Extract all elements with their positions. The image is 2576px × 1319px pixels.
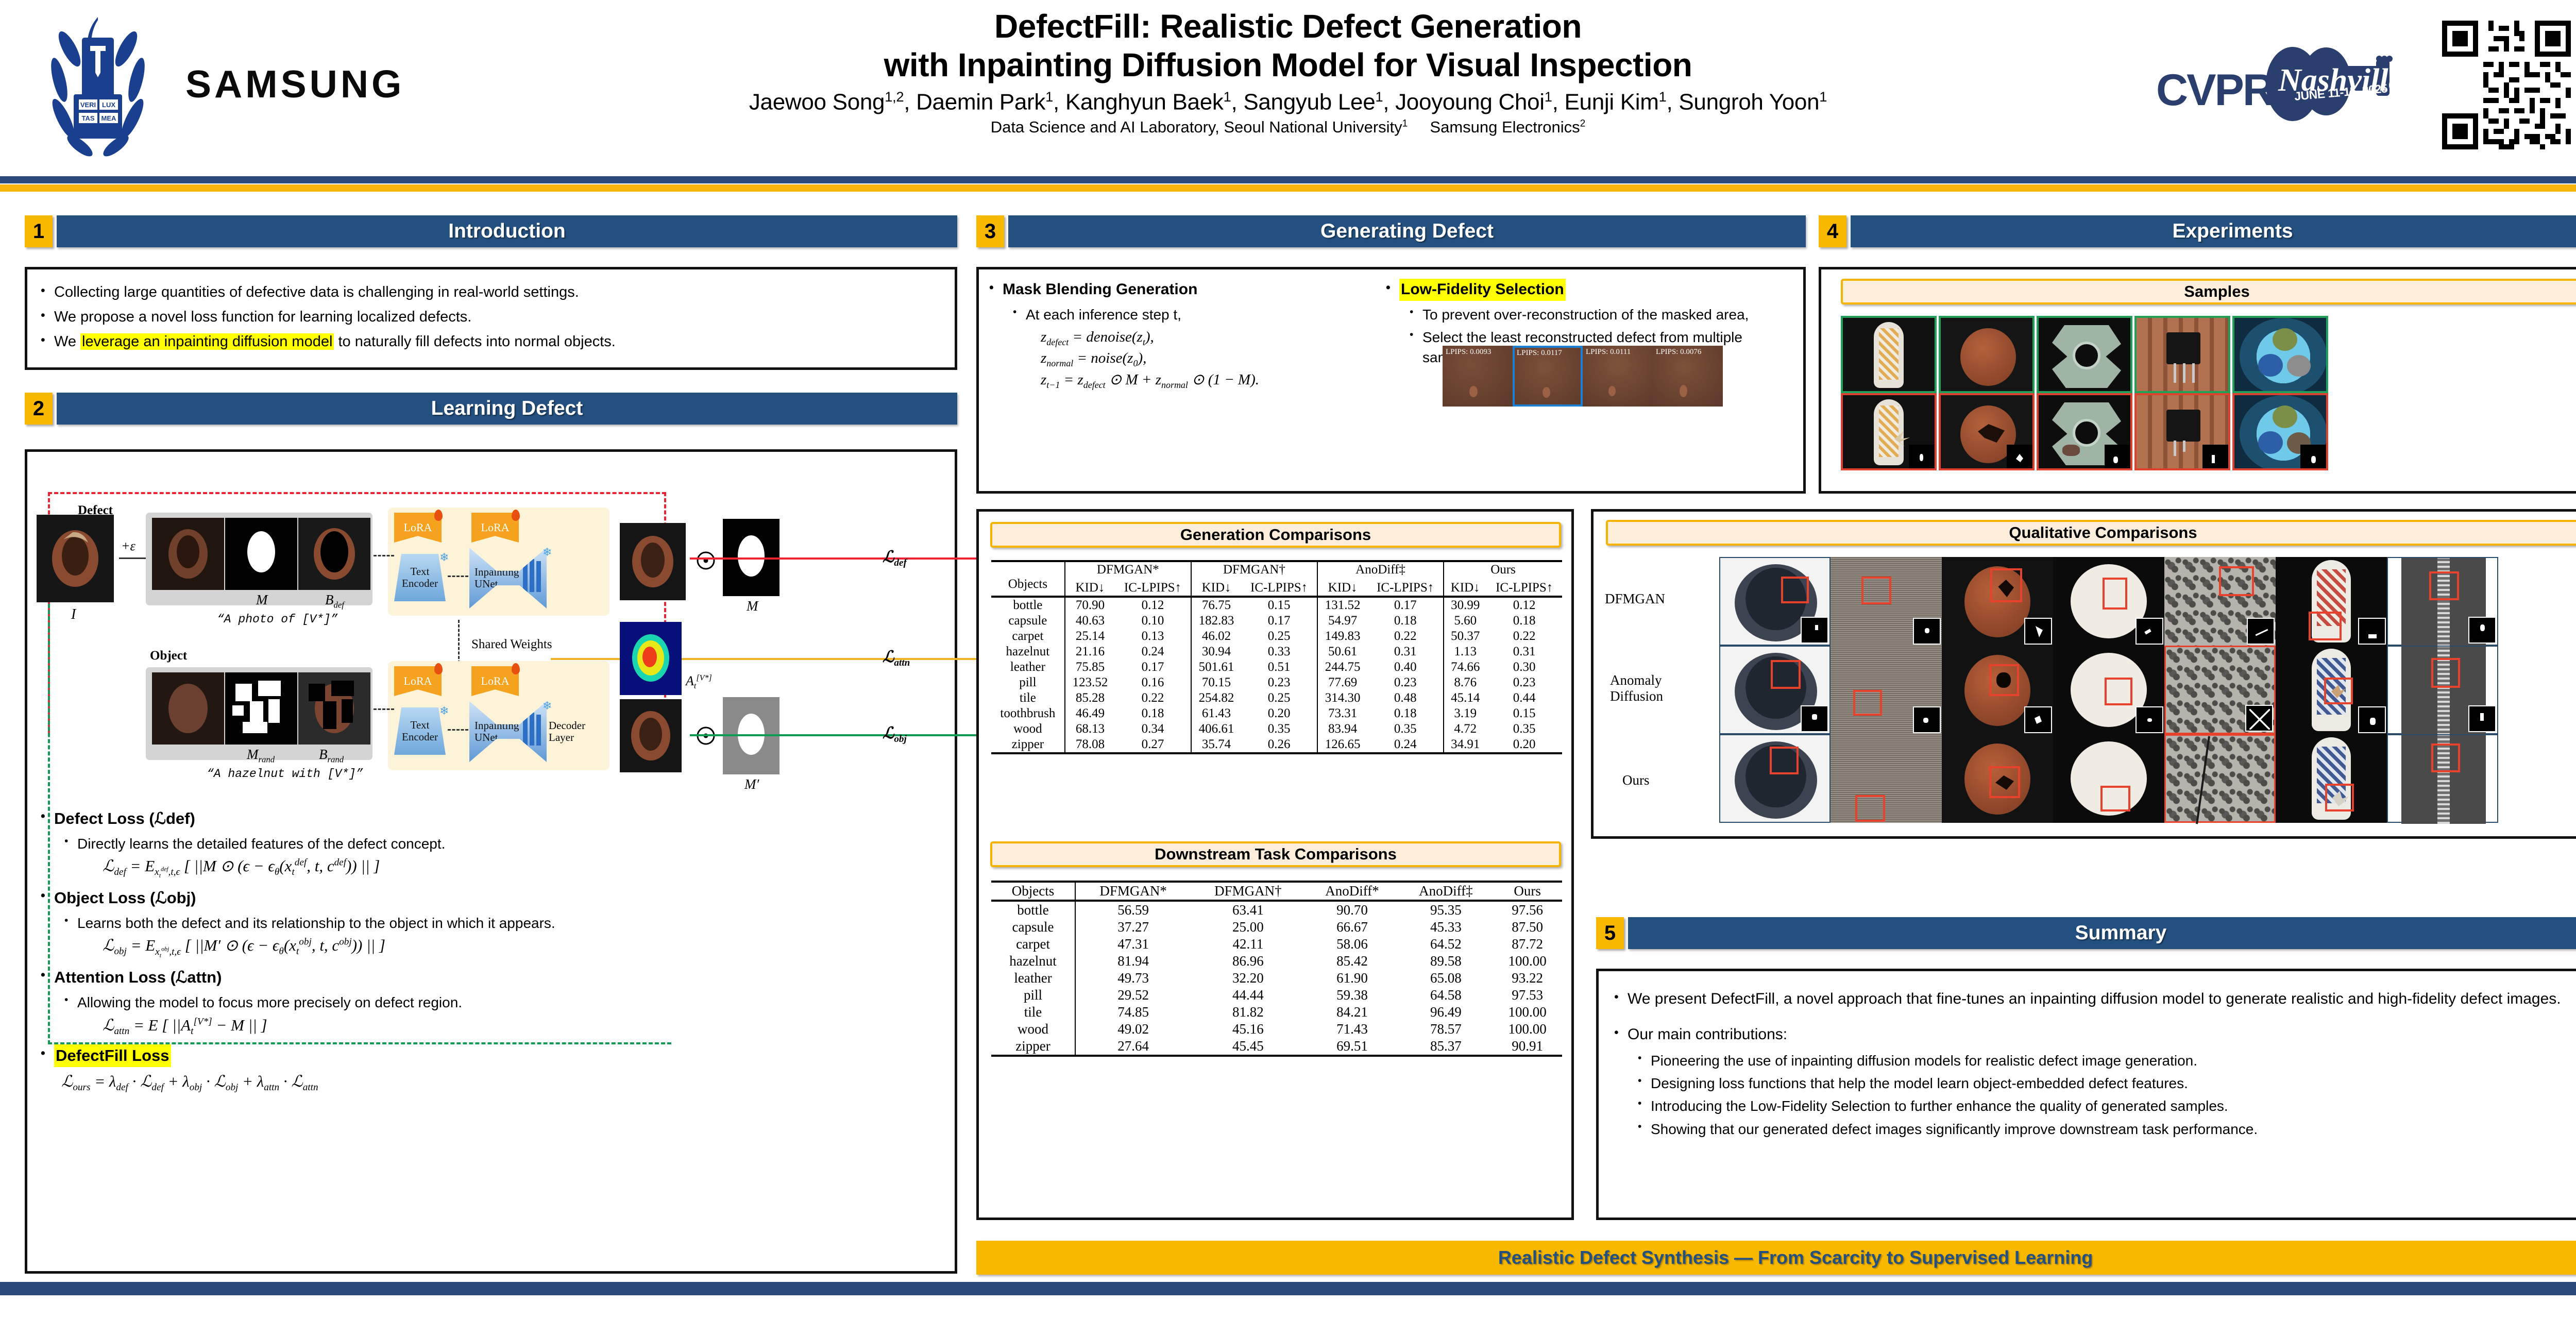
ds-cell: 85.42 (1306, 953, 1399, 970)
poster-header: VERILUX TASMEA SAMSUNG DefectFill: Reali… (0, 0, 2576, 179)
gen-cell: 0.35 (1486, 721, 1562, 737)
title-block: DefectFill: Realistic Defect Generation … (464, 7, 2112, 137)
frozen-icon-3: ❄ (439, 704, 449, 718)
frozen-icon-1: ❄ (439, 551, 449, 564)
qual-row-label-dfmgan: DFMGAN (1605, 591, 1665, 607)
sample-normal-toothbrush (1841, 316, 1937, 393)
low-fidelity-heading: •Low-Fidelity Selection (1386, 279, 1798, 301)
loss-item-object-title: •Object Loss (ℒobj) (41, 887, 942, 909)
gen-cell: 0.13 (1115, 629, 1191, 644)
defect-blend-image (298, 518, 370, 590)
gen-cell: 30.94 (1191, 644, 1241, 659)
qual-carpet-dfmgan (1831, 557, 1942, 646)
gen-cell: 5.60 (1444, 613, 1486, 629)
input-label-I: I (71, 606, 76, 623)
summary-sub-4: •Showing that our generated defect image… (1614, 1119, 2576, 1139)
ds-row-label: hazelnut (991, 953, 1075, 970)
prompt-defect: “A photo of [V*]” (217, 613, 338, 626)
gen-cell: 46.49 (1065, 706, 1115, 721)
intro-bullet-1: •Collecting large quantities of defectiv… (41, 282, 941, 303)
ds-cell: 78.57 (1399, 1021, 1493, 1038)
sample-normal-metalnut (2037, 316, 2132, 393)
defect-output-image (620, 523, 686, 600)
mask-rand-label: Mrand (247, 747, 275, 765)
low-fidelity-block: •Low-Fidelity Selection •To prevent over… (1386, 279, 1798, 370)
loss-item-attention-title: •Attention Loss (ℒattn) (41, 966, 942, 989)
qual-pill-anodiff (2053, 646, 2164, 734)
noise-label: +ε (121, 538, 135, 554)
table-row: capsule40.630.10182.830.1754.970.185.600… (991, 613, 1562, 629)
loss-item-attention-sub: •Allowing the model to focus more precis… (41, 992, 942, 1012)
ds-cell: 86.96 (1191, 953, 1305, 970)
equation-loss-ours: ℒours = λdef · ℒdef + λobj · ℒobj + λatt… (61, 1072, 942, 1093)
table-row: capsule37.2725.0066.6745.3387.50 (991, 919, 1562, 936)
section-number-5: 5 (1596, 917, 1624, 949)
loss-def-label: ℒdef (883, 548, 907, 569)
lpips-sample-3[interactable]: LPIPS: 0.0111 (1583, 346, 1653, 407)
gen-sub-header: KID↓ (1191, 580, 1241, 597)
gen-cell: 0.51 (1241, 659, 1317, 675)
samples-grid (1841, 316, 2328, 470)
gen-cell: 4.72 (1444, 721, 1486, 737)
sample-defect-cable (2232, 393, 2328, 470)
mask-label-M: M (256, 592, 268, 608)
ds-header: DFMGAN* (1075, 882, 1191, 901)
ds-cell: 49.02 (1075, 1021, 1191, 1038)
gen-cell: 406.61 (1191, 721, 1241, 737)
snu-logo-icon: VERILUX TASMEA (39, 13, 157, 162)
prompt-object: “A hazelnut with [V*]” (207, 767, 363, 781)
gen-cell: 0.15 (1241, 597, 1317, 613)
table-row: toothbrush46.490.1861.430.2073.310.183.1… (991, 706, 1562, 721)
qual-toothbrush-ours (2276, 734, 2387, 823)
intro-highlight: leverage an inpainting diffusion model (80, 333, 334, 350)
gen-cell: 0.44 (1486, 690, 1562, 706)
qual-zipper-dfmgan (2387, 557, 2498, 646)
cvpr-logo: CVPR Nashville JUNE 11-15, 2025 (2156, 25, 2398, 143)
equation-z-blend: zt−1 = zdefect ⊙ M + znormal ⊙ (1 − M). (1041, 370, 1381, 391)
sample-normal-transistor (2134, 316, 2230, 393)
gen-sub-header: IC-LPIPS↑ (1486, 580, 1562, 597)
qual-col-zipper (2387, 557, 2498, 823)
gen-cell: 0.27 (1115, 737, 1191, 753)
gen-cell: 0.22 (1367, 629, 1444, 644)
gen-cell: 0.12 (1115, 597, 1191, 613)
summary-sub-1: •Pioneering the use of inpainting diffus… (1614, 1051, 2576, 1071)
caption-generation-comparisons: Generation Comparisons (990, 522, 1561, 548)
qual-hazelnut-anodiff (1942, 646, 2053, 734)
page-title-line2: with Inpainting Diffusion Model for Visu… (464, 46, 2112, 84)
ds-cell: 64.52 (1399, 936, 1493, 953)
gen-cell: 0.31 (1486, 644, 1562, 659)
gen-cell: 0.16 (1115, 675, 1191, 690)
gen-cell: 74.66 (1444, 659, 1486, 675)
table-row: carpet47.3142.1158.0664.5287.72 (991, 936, 1562, 953)
gen-cell: 0.20 (1486, 737, 1562, 753)
gen-cell: 0.10 (1115, 613, 1191, 629)
poster-root: VERILUX TASMEA SAMSUNG DefectFill: Reali… (0, 0, 2576, 1319)
gen-cell: 75.85 (1065, 659, 1115, 675)
gen-cell: 0.23 (1241, 675, 1317, 690)
ds-cell: 100.00 (1493, 1021, 1562, 1038)
gen-row-label: capsule (991, 613, 1065, 629)
gen-group-header: Ours (1444, 561, 1562, 580)
ds-cell: 49.73 (1075, 970, 1191, 987)
ds-row-label: zipper (991, 1038, 1075, 1056)
footer-tagline: Realistic Defect Synthesis — From Scarci… (1498, 1247, 2093, 1269)
intro-bullet-2: •We propose a novel loss function for le… (41, 307, 941, 328)
gen-cell: 0.15 (1486, 706, 1562, 721)
frozen-icon-4: ❄ (543, 699, 552, 713)
gen-cell: 0.25 (1241, 690, 1317, 706)
loss-item-defect-sub: •Directly learns the detailed features o… (41, 834, 942, 854)
gen-cell: 77.69 (1317, 675, 1367, 690)
gen-cell: 35.74 (1191, 737, 1241, 753)
gen-cell: 0.23 (1486, 675, 1562, 690)
ds-cell: 45.45 (1191, 1038, 1305, 1056)
ds-cell: 90.70 (1306, 901, 1399, 919)
loss-attn-label: ℒattn (883, 648, 910, 669)
gen-cell: 0.30 (1486, 659, 1562, 675)
ds-row-label: capsule (991, 919, 1075, 936)
decoder-layer-label: DecoderLayer (549, 720, 585, 743)
qual-bottle-ours (1719, 734, 1831, 823)
section-number-3: 3 (976, 215, 1004, 247)
object-blend-image (298, 672, 370, 745)
gen-row-label: bottle (991, 597, 1065, 613)
ds-cell: 64.58 (1399, 987, 1493, 1004)
qual-row-label-ours: Ours (1622, 772, 1650, 788)
ds-header: AnoDiff‡ (1399, 882, 1493, 901)
gen-row-label: toothbrush (991, 706, 1065, 721)
section-header-generating-defect: 3 Generating Defect (976, 215, 1806, 247)
gen-cell: 131.52 (1317, 597, 1367, 613)
ds-cell: 69.51 (1306, 1038, 1399, 1056)
qualitative-comparisons-box: Qualitative Comparisons DFMGAN AnomalyDi… (1591, 509, 2576, 839)
caption-downstream-comparisons: Downstream Task Comparisons (990, 841, 1561, 867)
svg-text:TAS: TAS (81, 114, 94, 122)
qual-toothbrush-dfmgan (2276, 557, 2387, 646)
footer-divider-blue (0, 1282, 2576, 1295)
table-row: wood49.0245.1671.4378.57100.00 (991, 1021, 1562, 1038)
ds-cell: 71.43 (1306, 1021, 1399, 1038)
table-row: pill123.520.1670.150.2377.690.238.760.23 (991, 675, 1562, 690)
ds-cell: 56.59 (1075, 901, 1191, 919)
ds-cell: 93.22 (1493, 970, 1562, 987)
gen-cell: 244.75 (1317, 659, 1367, 675)
section-header-summary: 5 Summary (1596, 917, 2576, 949)
gen-cell: 50.61 (1317, 644, 1367, 659)
section-header-introduction: 1 Introduction (25, 215, 957, 247)
ds-cell: 81.82 (1191, 1004, 1305, 1021)
branch-label-object: Object (150, 649, 187, 663)
ds-cell: 97.56 (1493, 901, 1562, 919)
gen-group-header: DFMGAN* (1065, 561, 1191, 580)
lpips-sample-2[interactable]: LPIPS: 0.0117 (1513, 346, 1583, 407)
encoder2-to-unet-arrow (448, 729, 468, 731)
text-encoder-2: TextEncoder (394, 707, 446, 755)
qual-col-carpet (1831, 557, 1942, 823)
attention-label: At[V*] (686, 673, 712, 691)
mask-M-prime-caption: M′ (744, 776, 759, 792)
qual-col-tile (2164, 557, 2276, 823)
object-random-mask-image (225, 672, 297, 745)
ds-row-label: carpet (991, 936, 1075, 953)
ds-row-label: tile (991, 1004, 1075, 1021)
intro-bullet-3: • We leverage an inpainting diffusion mo… (41, 331, 941, 352)
equation-loss-def: ℒdef = Extdef,t,ϵ [ ||M ⊙ (ϵ − ϵθ(xtdef,… (103, 857, 942, 880)
author-list: Jaewoo Song1,2, Daemin Park1, Kanghyun B… (464, 89, 2112, 115)
gen-cell: 0.40 (1367, 659, 1444, 675)
gen-cell: 0.23 (1367, 675, 1444, 690)
ds-cell: 29.52 (1075, 987, 1191, 1004)
svg-text:VERI: VERI (80, 101, 96, 109)
text-encoder-1: TextEncoder (394, 554, 446, 601)
ds-cell: 27.64 (1075, 1038, 1191, 1056)
ds-cell: 81.94 (1075, 953, 1191, 970)
gen-cell: 254.82 (1191, 690, 1241, 706)
gen-cell: 30.99 (1444, 597, 1486, 613)
downstream-comparisons-table: ObjectsDFMGAN*DFMGAN†AnoDiff*AnoDiff‡Our… (991, 881, 1562, 1057)
gen-sub-header: IC-LPIPS↑ (1367, 580, 1444, 597)
gen-sub-header: KID↓ (1444, 580, 1486, 597)
lpips-label-3: LPIPS: 0.0111 (1586, 348, 1631, 357)
gen-cell: 0.17 (1115, 659, 1191, 675)
lpips-sample-strip: LPIPS: 0.0093 LPIPS: 0.0117 LPIPS: 0.011… (1443, 346, 1723, 407)
gen-cell: 0.17 (1367, 597, 1444, 613)
ds-cell: 65.08 (1399, 970, 1493, 987)
gen-cell: 0.24 (1367, 737, 1444, 753)
attn-branch-line (551, 658, 620, 660)
header-divider-blue (0, 176, 2576, 183)
loss-attn-arrow (682, 658, 980, 660)
gen-cell: 123.52 (1065, 675, 1115, 690)
gen-cell: 0.18 (1367, 613, 1444, 629)
qual-tile-dfmgan (2164, 557, 2276, 646)
equation-z-normal: znormal = noise(z0), (1041, 350, 1381, 369)
table-row: bottle56.5963.4190.7095.3597.56 (991, 901, 1562, 919)
ds-header: Objects (991, 882, 1075, 901)
summary-bullet-1: •We present DefectFill, a novel approach… (1614, 988, 2576, 1010)
gen-cell: 0.18 (1367, 706, 1444, 721)
loss-obj-arrow (690, 734, 978, 736)
table-row: leather75.850.17501.610.51244.750.4074.6… (991, 659, 1562, 675)
qual-row-label-anomalydiffusion: AnomalyDiffusion (1610, 672, 1663, 704)
gen-cell: 501.61 (1191, 659, 1241, 675)
gen-cell: 50.37 (1444, 629, 1486, 644)
gen-cell: 0.31 (1367, 644, 1444, 659)
ds-cell: 87.72 (1493, 936, 1562, 953)
ds-header: DFMGAN† (1191, 882, 1305, 901)
caption-qualitative-comparisons: Qualitative Comparisons (1606, 520, 2576, 546)
ds-cell: 42.11 (1191, 936, 1305, 953)
shared-weights-label: Shared Weights (471, 637, 552, 652)
gen-cell: 0.33 (1241, 644, 1317, 659)
ds-cell: 61.90 (1306, 970, 1399, 987)
gen-cell: 68.13 (1065, 721, 1115, 737)
ds-row-label: wood (991, 1021, 1075, 1038)
qual-carpet-anodiff (1831, 646, 1942, 734)
gen-cell: 0.35 (1241, 721, 1317, 737)
mask-blending-sub: •At each inference step t, (989, 305, 1381, 325)
sample-column-hazelnut (1939, 316, 2035, 470)
equation-loss-attn: ℒattn = E [ ||At[V*] − M || ] (103, 1016, 942, 1037)
gen-cell: 1.13 (1444, 644, 1486, 659)
sample-column-toothbrush (1841, 316, 1937, 470)
ds-header: Ours (1493, 882, 1562, 901)
gen-cell: 0.17 (1241, 613, 1317, 629)
gen-cell: 314.30 (1317, 690, 1367, 706)
lpips-sample-1[interactable]: LPIPS: 0.0093 (1443, 346, 1513, 407)
equation-z-defect: zdefect = denoise(zt), (1041, 329, 1381, 348)
lpips-label-2: LPIPS: 0.0117 (1517, 349, 1562, 358)
summary-box: •We present DefectFill, a novel approach… (1596, 969, 2576, 1220)
ds-cell: 47.31 (1075, 936, 1191, 953)
flame-icon-2 (512, 510, 520, 521)
qual-carpet-ours (1831, 734, 1942, 823)
qual-tile-anodiff (2164, 646, 2276, 734)
gen-cell: 149.83 (1317, 629, 1367, 644)
qual-tile-ours (2164, 734, 2276, 823)
gen-cell: 45.14 (1444, 690, 1486, 706)
gen-sub-header: KID↓ (1065, 580, 1115, 597)
gen-cell: 126.65 (1317, 737, 1367, 753)
gen-cell: 0.48 (1367, 690, 1444, 706)
table-row: leather49.7332.2061.9065.0893.22 (991, 970, 1562, 987)
ds-cell: 45.33 (1399, 919, 1493, 936)
summary-sub-3: •Introducing the Low-Fidelity Selection … (1614, 1096, 2576, 1116)
gen-cell: 40.63 (1065, 613, 1115, 629)
gen-cell: 0.24 (1115, 644, 1191, 659)
qual-hazelnut-dfmgan (1942, 557, 2053, 646)
ds-cell: 87.50 (1493, 919, 1562, 936)
gen-sub-header: IC-LPIPS↑ (1115, 580, 1191, 597)
sample-defect-metalnut (2037, 393, 2132, 470)
ds-cell: 25.00 (1191, 919, 1305, 936)
generation-comparisons-table-wrap: ObjectsDFMGAN*DFMGAN†AnoDiff‡OursKID↓IC-… (991, 560, 1562, 754)
ds-cell: 44.44 (1191, 987, 1305, 1004)
ds-cell: 74.85 (1075, 1004, 1191, 1021)
cvpr-wordmark: CVPR (2156, 65, 2273, 116)
gen-cell: 3.19 (1444, 706, 1486, 721)
gen-cell: 83.94 (1317, 721, 1367, 737)
introduction-box: •Collecting large quantities of defectiv… (25, 267, 957, 370)
gen-cell: 0.12 (1486, 597, 1562, 613)
generation-comparisons-table: ObjectsDFMGAN*DFMGAN†AnoDiff‡OursKID↓IC-… (991, 560, 1562, 754)
mask-blending-heading: •Mask Blending Generation (989, 279, 1381, 301)
loss-item-defect-title: •Defect Loss (ℒdef) (41, 807, 942, 830)
ds-row-label: leather (991, 970, 1075, 987)
sample-defect-toothbrush (1841, 393, 1937, 470)
gen-th-objects: Objects (991, 561, 1065, 597)
section-title-introduction: Introduction (448, 220, 565, 243)
loss-item-defectfill-title: •DefectFill Loss (41, 1044, 942, 1067)
page-title-line1: DefectFill: Realistic Defect Generation (464, 7, 2112, 46)
section-number-2: 2 (25, 393, 53, 425)
table-row: carpet25.140.1346.020.25149.830.2250.370… (991, 629, 1562, 644)
object-to-unet-arrow (374, 708, 394, 710)
object-output-image (620, 699, 682, 772)
defect-noisy-image (152, 518, 224, 590)
qual-col-pill (2053, 557, 2164, 823)
ds-cell: 89.58 (1399, 953, 1493, 970)
gen-group-header: DFMGAN† (1191, 561, 1317, 580)
qual-bottle-dfmgan (1719, 557, 1831, 646)
ds-cell: 96.49 (1399, 1004, 1493, 1021)
ds-cell: 97.53 (1493, 987, 1562, 1004)
summary-sub-2: •Designing loss functions that help the … (1614, 1073, 2576, 1093)
low-fidelity-sub-1: •To prevent over-reconstruction of the m… (1386, 305, 1798, 325)
caption-samples: Samples (1841, 279, 2576, 305)
loss-item-object-sub: •Learns both the defect and its relation… (41, 913, 942, 933)
table-row: tile74.8581.8284.2196.49100.00 (991, 1004, 1562, 1021)
gen-cell: 0.34 (1115, 721, 1191, 737)
qual-zipper-anodiff (2387, 646, 2498, 734)
loss-definitions: •Defect Loss (ℒdef) •Directly learns the… (41, 807, 942, 1093)
ds-cell: 63.41 (1191, 901, 1305, 919)
section-title-generating-defect: Generating Defect (1320, 220, 1494, 243)
table-row: hazelnut81.9486.9685.4289.58100.00 (991, 953, 1562, 970)
loss-obj-label: ℒobj (883, 724, 907, 745)
qual-col-toothbrush (2276, 557, 2387, 823)
qual-toothbrush-anodiff (2276, 646, 2387, 734)
svg-text:LUX: LUX (102, 101, 115, 109)
gen-cell: 0.20 (1241, 706, 1317, 721)
qr-code-icon[interactable] (2442, 21, 2571, 149)
sample-column-transistor (2134, 316, 2230, 470)
gen-cell: 46.02 (1191, 629, 1241, 644)
section-title-learning-defect: Learning Defect (431, 397, 583, 420)
affiliation-list: Data Science and AI Laboratory, Seoul Na… (464, 118, 2112, 137)
mask-M-caption: M (747, 598, 758, 614)
frozen-icon-2: ❄ (543, 546, 552, 559)
table-row: zipper27.6445.4569.5185.3790.91 (991, 1038, 1562, 1056)
gen-group-header: AnoDiff‡ (1317, 561, 1444, 580)
ds-cell: 59.38 (1306, 987, 1399, 1004)
section-title-experiments: Experiments (2172, 220, 2293, 243)
qual-zipper-ours (2387, 734, 2498, 823)
loss-def-arrow (690, 557, 978, 560)
table-row: tile85.280.22254.820.25314.300.4845.140.… (991, 690, 1562, 706)
gen-cell: 0.22 (1486, 629, 1562, 644)
gen-cell: 25.14 (1065, 629, 1115, 644)
gen-cell: 76.75 (1191, 597, 1241, 613)
section-number-4: 4 (1819, 215, 1846, 247)
encoder-to-unet-arrow (448, 576, 468, 577)
qual-pill-ours (2053, 734, 2164, 823)
gen-cell: 70.15 (1191, 675, 1241, 690)
gen-cell: 73.31 (1317, 706, 1367, 721)
lpips-sample-4[interactable]: LPIPS: 0.0076 (1653, 346, 1723, 407)
gen-row-label: zipper (991, 737, 1065, 753)
ds-cell: 45.16 (1191, 1021, 1305, 1038)
qual-pill-dfmgan (2053, 557, 2164, 646)
gen-row-label: tile (991, 690, 1065, 706)
summary-bullet-2: •Our main contributions: (1614, 1024, 2576, 1046)
gen-cell: 0.35 (1367, 721, 1444, 737)
qualitative-row-labels: DFMGAN AnomalyDiffusion Ours (1601, 561, 1719, 824)
gen-cell: 0.18 (1486, 613, 1562, 629)
table-row: hazelnut21.160.2430.940.3350.610.311.130… (991, 644, 1562, 659)
gen-sub-header: KID↓ (1317, 580, 1367, 597)
table-row: pill29.5244.4459.3864.5897.53 (991, 987, 1562, 1004)
gen-row-label: hazelnut (991, 644, 1065, 659)
attention-map-image (620, 622, 682, 695)
defect-mask-image (225, 518, 297, 590)
gen-cell: 61.43 (1191, 706, 1241, 721)
section-header-learning-defect: 2 Learning Defect (25, 393, 957, 425)
ds-cell: 85.37 (1399, 1038, 1493, 1056)
